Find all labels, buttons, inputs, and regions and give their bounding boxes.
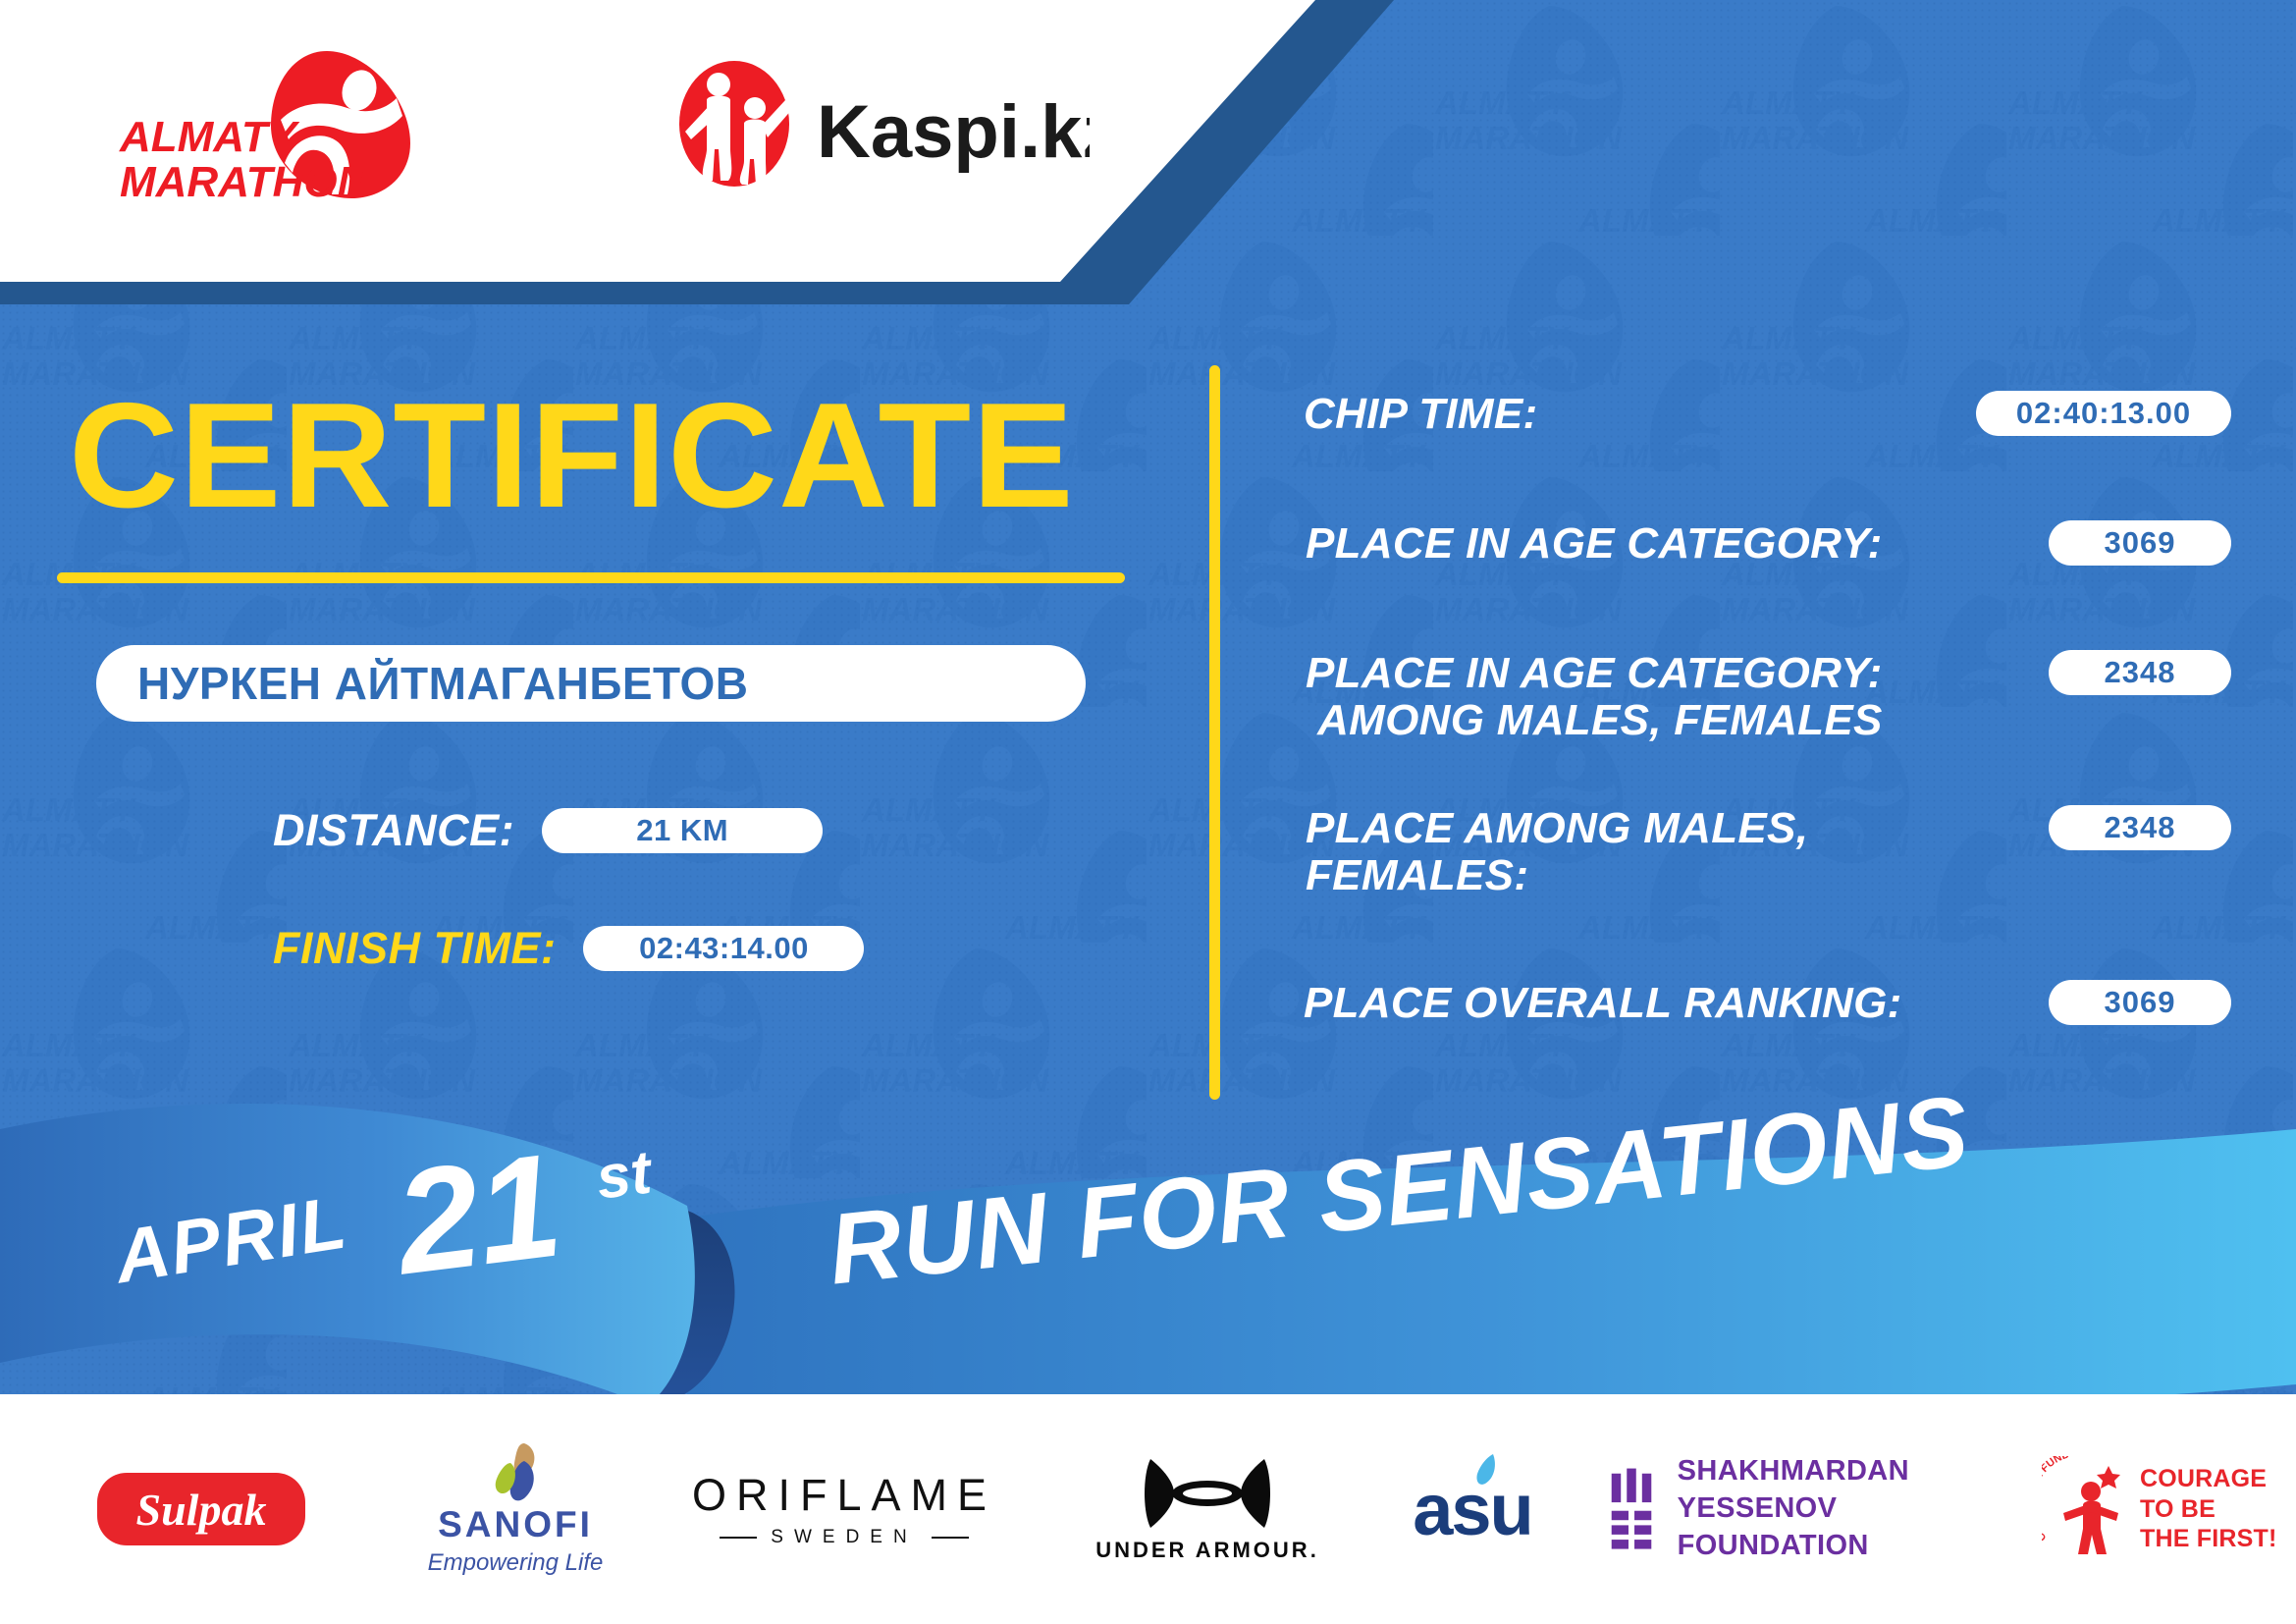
stat-row-overall: PLACE OVERALL RANKING: [1304, 980, 1902, 1027]
courage-label-line3: THE FIRST! [2140, 1524, 2277, 1554]
sanofi-tagline: Empowering Life [428, 1549, 604, 1577]
sponsor-yessenov-foundation: SHAKHMARDAN YESSENOV FOUNDATION [1610, 1394, 2022, 1624]
oriflame-label: ORIFLAME [692, 1470, 996, 1521]
yessenov-label-line2: FOUNDATION [1678, 1528, 2022, 1565]
courage-label-line2: TO BE [2140, 1494, 2277, 1525]
stat-label-place-gender-line1: PLACE AMONG MALES, [1306, 805, 1808, 852]
distance-row: DISTANCE: 21 KM [273, 805, 823, 856]
sponsor-asu: asu [1345, 1394, 1600, 1624]
sponsor-courage-fund: CORPORATE FUND COURAGE TO BE THE FIRST! [2042, 1394, 2296, 1624]
sponsor-sulpak: Sulpak [88, 1394, 314, 1624]
stat-label-place-gender-line2: FEMALES: [1306, 852, 1808, 899]
stat-value-chip-time: 02:40:13.00 [1976, 391, 2231, 436]
title-underline [57, 572, 1125, 583]
vertical-divider [1209, 365, 1220, 1100]
courage-arc-label: CORPORATE FUND [2042, 1456, 2071, 1543]
certificate-canvas: ALMATY MARATHON ALMATY MARATHON [0, 0, 2296, 1624]
kaspi-logo-text: Kaspi.kz [817, 90, 1090, 174]
kaspi-people-icon [679, 61, 793, 187]
distance-label: DISTANCE: [273, 805, 514, 856]
stat-value-place-age-gender: 2348 [2049, 650, 2231, 695]
sponsor-sanofi: SANOFI Empowering Life [383, 1394, 648, 1624]
courage-label-line1: COURAGE [2140, 1464, 2277, 1494]
participant-name-text: НУРКЕН АЙТМАГАНБЕТОВ [137, 657, 749, 710]
stat-row-chip-time: CHIP TIME: [1304, 391, 1537, 438]
under-armour-icon [1141, 1455, 1274, 1532]
asu-droplet-icon [1473, 1452, 1499, 1488]
ribbon-day-suffix: st [593, 1138, 655, 1214]
oriflame-rule-left [720, 1537, 757, 1539]
oriflame-tagline: SWEDEN [771, 1527, 917, 1548]
almaty-logo-line2: MARATHON [120, 158, 370, 204]
courage-fund-icon: CORPORATE FUND [2042, 1456, 2132, 1562]
stat-label-place-age-gender-line1: PLACE IN AGE CATEGORY: [1306, 650, 1883, 697]
sulpak-logo-text: Sulpak [97, 1473, 305, 1545]
certificate-title: CERTIFICATE [69, 381, 1075, 530]
asu-label: asu [1413, 1468, 1532, 1551]
stat-row-place-age: PLACE IN AGE CATEGORY: [1306, 520, 1883, 568]
distance-value: 21 KM [542, 808, 823, 853]
almaty-marathon-logo: ALMATY MARATHON [116, 47, 420, 204]
stat-label-chip-time: CHIP TIME: [1304, 391, 1537, 438]
yessenov-label-line1: SHAKHMARDAN YESSENOV [1678, 1453, 2022, 1527]
almaty-logo-line1: ALMATY [119, 113, 300, 161]
sponsor-oriflame: ORIFLAME SWEDEN [687, 1394, 1001, 1624]
finish-time-row: FINISH TIME: 02:43:14.00 [273, 923, 864, 974]
stat-value-place-gender: 2348 [2049, 805, 2231, 850]
stat-label-overall: PLACE OVERALL RANKING: [1304, 980, 1902, 1027]
oriflame-rule-right [932, 1537, 969, 1539]
under-armour-label: UNDER ARMOUR. [1095, 1538, 1319, 1563]
participant-name-field: НУРКЕН АЙТМАГАНБЕТОВ [96, 645, 1086, 722]
sponsor-under-armour: UNDER ARMOUR. [1070, 1394, 1345, 1624]
stat-label-place-age-gender-line2: AMONG MALES, FEMALES [1306, 697, 1883, 744]
kaspi-logo: Kaspi.kz [677, 59, 1090, 191]
yessenov-icon [1610, 1462, 1656, 1556]
stat-label-place-age: PLACE IN AGE CATEGORY: [1306, 520, 1883, 568]
stat-value-overall: 3069 [2049, 980, 2231, 1025]
sanofi-label: SANOFI [438, 1504, 593, 1545]
stat-value-place-age: 3069 [2049, 520, 2231, 566]
stat-row-place-age-gender: PLACE IN AGE CATEGORY: AMONG MALES, FEMA… [1306, 650, 1883, 743]
sponsor-bar: Sulpak SANOFI Empowering Life ORIFLAME S… [0, 1394, 2296, 1624]
ribbon-day: 21 [387, 1120, 568, 1309]
stat-row-place-gender: PLACE AMONG MALES, FEMALES: [1306, 805, 1808, 898]
sanofi-icon [481, 1441, 550, 1504]
finish-time-label: FINISH TIME: [273, 923, 556, 974]
finish-time-value: 02:43:14.00 [583, 926, 864, 971]
